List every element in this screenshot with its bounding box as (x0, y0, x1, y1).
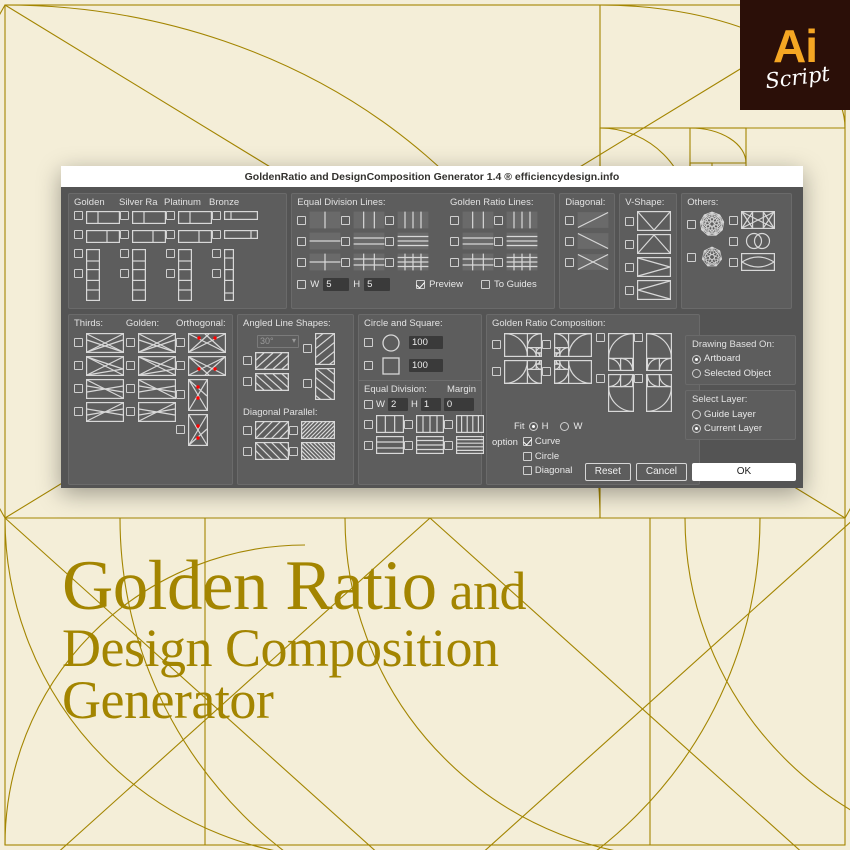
option-label: option (492, 437, 518, 448)
ed-h-input[interactable]: 1 (421, 398, 441, 411)
circle-square-group: Circle and Square: 100 100 (358, 314, 482, 485)
ratio-item-1-0[interactable] (120, 211, 166, 227)
preview-label: Preview (429, 279, 463, 290)
horizontal-division-icon[interactable] (462, 232, 494, 250)
diagonal-item-2[interactable] (565, 253, 609, 271)
orthogonal-item-1[interactable] (176, 356, 227, 376)
edl-item-1-0[interactable] (297, 232, 341, 250)
v-shape-icon-0[interactable] (637, 211, 671, 231)
ratio-checkbox-3-0[interactable] (212, 211, 221, 220)
golden-icon-3[interactable] (138, 402, 176, 422)
thirds-icon-1[interactable] (86, 356, 124, 376)
golden-ratio-composition-group: Golden Ratio Composition: Fit H W option (486, 314, 700, 485)
logo-script-text: Script (764, 64, 831, 93)
current-layer-radio[interactable] (692, 424, 701, 433)
ratio-item-1-2[interactable] (120, 249, 166, 266)
angled-item-3[interactable] (303, 368, 335, 400)
grl-checkbox-0-0[interactable] (450, 216, 459, 225)
thirds-item-2[interactable] (74, 379, 126, 399)
ratio-item-1-1[interactable] (120, 230, 166, 246)
orthogonal-item-3[interactable] (176, 414, 227, 446)
golden-spiral-icon-tall[interactable] (646, 333, 672, 371)
vertical-division-icon[interactable] (397, 211, 429, 229)
orthogonal-list (176, 333, 227, 446)
ratio-item-2-3[interactable] (166, 269, 212, 286)
equal-division-vertical-icon[interactable] (376, 415, 404, 433)
golden-item-3-checkbox[interactable] (126, 407, 135, 416)
diagonal-list (565, 211, 609, 271)
grid-division-icon[interactable] (397, 253, 429, 271)
ratio-icon-v2[interactable] (132, 269, 146, 301)
thirds-item-2-checkbox[interactable] (74, 384, 83, 393)
ratio-icon-h2[interactable] (178, 230, 212, 243)
edl-item-0-1[interactable] (341, 211, 385, 229)
golden-icon-2[interactable] (138, 379, 176, 399)
ed-item-h-0[interactable] (364, 436, 404, 454)
wh-enable-checkbox[interactable] (297, 280, 306, 289)
diagonal-item-2-checkbox[interactable] (565, 258, 574, 267)
diagonal-parallel-label: Diagonal Parallel: (243, 408, 348, 418)
headline-part-and: and (437, 561, 526, 621)
option-diagonal[interactable]: Diagonal (523, 465, 573, 476)
grc-wide-checkbox-1-0[interactable] (492, 367, 501, 376)
diagonal-item-0-checkbox[interactable] (565, 216, 574, 225)
horizontal-division-icon[interactable] (309, 232, 341, 250)
angled-item-1[interactable] (243, 373, 299, 391)
grc-wide-checkbox-0-1[interactable] (542, 340, 551, 349)
square-icon[interactable] (376, 356, 406, 376)
grl-item-1-0[interactable] (450, 232, 494, 250)
square-size-input[interactable]: 100 (409, 359, 443, 372)
margin-label: Margin (447, 385, 476, 395)
edl-item-0-2[interactable] (385, 211, 429, 229)
guide-layer-radio[interactable] (692, 410, 701, 419)
curve-checkbox[interactable] (523, 437, 532, 446)
dialog-body: Golden Silver Ra Platinum Bronze Equal D… (61, 187, 803, 488)
angled-line-icon[interactable] (255, 373, 289, 391)
ratio-item-1-3[interactable] (120, 269, 166, 286)
dialog-title: GoldenRatio and DesignComposition Genera… (245, 171, 620, 183)
ed-item-v-2[interactable] (444, 415, 484, 433)
grc-wide-checkbox-1-1[interactable] (542, 367, 551, 376)
edl-checkbox-2-2[interactable] (385, 258, 394, 267)
equal-division-horizontal-icon[interactable] (456, 436, 484, 454)
angled-right-list (303, 333, 335, 400)
ed-item-h-0-checkbox[interactable] (364, 441, 373, 450)
angled-item-0-checkbox[interactable] (243, 356, 252, 365)
curve-label: Curve (535, 436, 560, 447)
angled-item-2[interactable] (303, 333, 335, 365)
grl-checkbox-1-0[interactable] (450, 237, 459, 246)
golden-spiral-icon-tall[interactable] (608, 333, 634, 371)
diagonal-icon-0[interactable] (577, 211, 609, 229)
edl-item-2-1[interactable] (341, 253, 385, 271)
w-label: W (310, 279, 319, 290)
angled-item-2-checkbox[interactable] (303, 344, 312, 353)
diagonal-option-checkbox[interactable] (523, 466, 532, 475)
grc-wide-checkbox-0-0[interactable] (492, 340, 501, 349)
h-label: H (353, 279, 360, 290)
drawing-based-on-selected-object[interactable]: Selected Object (692, 368, 789, 379)
ratio-icon-h2[interactable] (132, 230, 166, 243)
h-input[interactable]: 5 (364, 278, 390, 291)
ratio-checkbox-3-2[interactable] (212, 249, 221, 258)
ratio-col-label-golden: Golden (74, 198, 119, 208)
right-panels: Drawing Based On: Artboard Selected Obje… (685, 187, 796, 445)
guide-layer-label: Guide Layer (704, 409, 756, 420)
grid-division-icon[interactable] (462, 253, 494, 271)
edl-checkbox-0-2[interactable] (385, 216, 394, 225)
ratio-item-3-2[interactable] (212, 249, 258, 266)
thirds-item-1-checkbox[interactable] (74, 361, 83, 370)
ratio-checkbox-2-2[interactable] (166, 249, 175, 258)
golden-item-2-checkbox[interactable] (126, 384, 135, 393)
edl-item-2-2[interactable] (385, 253, 429, 271)
fit-h-label: H (542, 421, 549, 432)
ratio-column-1 (120, 211, 166, 289)
angled-item-3-checkbox[interactable] (303, 379, 312, 388)
grl-item-0-0[interactable] (450, 211, 494, 229)
orthogonal-item-2[interactable] (176, 379, 227, 411)
v-shape-icon-3[interactable] (637, 280, 671, 300)
golden-ratio-lines-label: Golden Ratio Lines: (450, 198, 549, 208)
angled-line-vertical-icon[interactable] (315, 333, 335, 365)
golden-spiral-icon-wide[interactable] (554, 333, 592, 357)
golden-item-3[interactable] (126, 402, 176, 422)
golden-item-1-checkbox[interactable] (126, 361, 135, 370)
golden-item-2[interactable] (126, 379, 176, 399)
equal-division-checkbox[interactable] (364, 400, 373, 409)
ratio-checkbox-1-0[interactable] (120, 211, 129, 220)
diagonal-item-1[interactable] (565, 232, 609, 250)
ed-item-v-0-checkbox[interactable] (364, 420, 373, 429)
angled-line-vertical-icon[interactable] (315, 368, 335, 400)
ed-item-h-1-checkbox[interactable] (404, 441, 413, 450)
ratio-item-0-1[interactable] (74, 230, 120, 246)
edl-checkbox-2-1[interactable] (341, 258, 350, 267)
grc-tall-item-0-0[interactable] (596, 333, 634, 371)
logo-ai-text: Ai (773, 23, 817, 69)
v-shape-item-1[interactable] (625, 234, 671, 254)
edl-checkbox-1-0[interactable] (297, 237, 306, 246)
v-shape-item-1-checkbox[interactable] (625, 240, 634, 249)
grl-item-1-1[interactable] (494, 232, 538, 250)
grc-right-grid (596, 333, 672, 415)
equal-division-fields: W 2 H 1 0 (364, 398, 476, 411)
headline-line-2: Design Composition (62, 622, 702, 675)
edl-checkbox-2-0[interactable] (297, 258, 306, 267)
ed-w-input[interactable]: 2 (388, 398, 408, 411)
orthogonal-item-2-checkbox[interactable] (176, 390, 185, 399)
fit-w-radio[interactable] (560, 422, 569, 431)
v-shape-item-3-checkbox[interactable] (625, 286, 634, 295)
ratio-checkbox-1-3[interactable] (120, 269, 129, 278)
thirds-item-0[interactable] (74, 333, 126, 353)
golden-icon-1[interactable] (138, 356, 176, 376)
diagpar-item-0[interactable] (243, 421, 289, 439)
edl-item-2-0[interactable] (297, 253, 341, 271)
drawing-based-on-artboard[interactable]: Artboard (692, 353, 789, 364)
ratio-icon-v2[interactable] (86, 269, 100, 301)
golden-icon-0[interactable] (138, 333, 176, 353)
golden-spiral-icon-wide[interactable] (554, 360, 592, 384)
ratio-item-2-0[interactable] (166, 211, 212, 227)
ratio-checkbox-0-1[interactable] (74, 230, 83, 239)
ed-item-h-2[interactable] (444, 436, 484, 454)
grid-division-icon[interactable] (353, 253, 385, 271)
equal-division-lines-section: Equal Division Lines: (297, 198, 450, 274)
diagonal-item-0[interactable] (565, 211, 609, 229)
horizontal-division-icon[interactable] (506, 232, 538, 250)
orthogonal-icon-2[interactable] (188, 379, 208, 411)
ed-item-v-1[interactable] (404, 415, 444, 433)
diagonal-parallel-icon[interactable] (255, 442, 289, 460)
orthogonal-item-3-checkbox[interactable] (176, 425, 185, 434)
ratio-item-0-2[interactable] (74, 249, 120, 266)
v-shape-label: V-Shape: (625, 198, 671, 208)
thirds-icon-0[interactable] (86, 333, 124, 353)
ratio-checkbox-2-1[interactable] (166, 230, 175, 239)
ratio-item-3-1[interactable] (212, 230, 258, 246)
headline-part-golden-ratio: Golden Ratio (62, 547, 437, 625)
diagpar-item-1[interactable] (289, 421, 335, 439)
select-layer-current[interactable]: Current Layer (692, 423, 789, 434)
edl-checkbox-1-1[interactable] (341, 237, 350, 246)
ratio-checkbox-3-1[interactable] (212, 230, 221, 239)
equal-division-horizontal-icon[interactable] (416, 436, 444, 454)
v-shape-item-2[interactable] (625, 257, 671, 277)
angle-select[interactable]: 30° (257, 335, 299, 348)
grl-checkbox-2-0[interactable] (450, 258, 459, 267)
ratio-item-3-0[interactable] (212, 211, 258, 227)
grl-checkbox-0-1[interactable] (494, 216, 503, 225)
circle-size-input[interactable]: 100 (409, 336, 443, 349)
ratio-checkbox-0-2[interactable] (74, 249, 83, 258)
grl-checkbox-1-1[interactable] (494, 237, 503, 246)
v-shape-item-0[interactable] (625, 211, 671, 231)
ratio-item-3-3[interactable] (212, 269, 258, 286)
circle-row: 100 (364, 333, 476, 353)
ed-item-v-1-checkbox[interactable] (404, 420, 413, 429)
grc-tall-checkbox-1-0[interactable] (596, 374, 605, 383)
ok-button[interactable]: OK (692, 463, 796, 481)
ratio-item-0-0[interactable] (74, 211, 120, 227)
ratio-icon-h1[interactable] (224, 211, 258, 220)
ratio-icon-h2[interactable] (86, 230, 120, 243)
thirds-icon-2[interactable] (86, 379, 124, 399)
orthogonal-icon-3[interactable] (188, 414, 208, 446)
reset-button[interactable]: Reset (585, 463, 631, 481)
grc-tall-item-1-0[interactable] (596, 374, 634, 412)
vertical-division-icon[interactable] (309, 211, 341, 229)
square-checkbox[interactable] (364, 361, 373, 370)
selected-object-radio[interactable] (692, 369, 701, 378)
ratio-checkbox-0-3[interactable] (74, 269, 83, 278)
ed-item-h-2-checkbox[interactable] (444, 441, 453, 450)
grl-checkbox-2-1[interactable] (494, 258, 503, 267)
fit-label: Fit (514, 421, 525, 432)
ratio-checkbox-2-0[interactable] (166, 211, 175, 220)
golden-item-0-checkbox[interactable] (126, 338, 135, 347)
v-shape-group: V-Shape: (619, 193, 677, 309)
ed-margin-input[interactable]: 0 (444, 398, 474, 411)
vertical-division-icon[interactable] (353, 211, 385, 229)
ratio-checkbox-3-3[interactable] (212, 269, 221, 278)
edl-item-1-2[interactable] (385, 232, 429, 250)
horizontal-division-icon[interactable] (353, 232, 385, 250)
grc-wide-item-1-0[interactable] (492, 360, 542, 384)
thirds-icon-3[interactable] (86, 402, 124, 422)
to-guides-label: To Guides (494, 279, 537, 290)
golden-spiral-icon-wide[interactable] (504, 333, 542, 357)
grid-division-icon[interactable] (309, 253, 341, 271)
grc-tall-item-0-1[interactable] (634, 333, 672, 371)
preview-checkbox[interactable] (416, 280, 425, 289)
ratio-icon-h1[interactable] (178, 211, 212, 224)
golden-section: Golden: (126, 319, 176, 448)
grc-tall-checkbox-1-1[interactable] (634, 374, 643, 383)
ratio-item-0-3[interactable] (74, 269, 120, 286)
drawing-based-on-label: Drawing Based On: (692, 340, 789, 350)
ai-script-logo: Ai Script (740, 0, 850, 110)
fit-h-radio[interactable] (529, 422, 538, 431)
golden-label: Golden: (126, 319, 176, 329)
circle-icon[interactable] (376, 333, 406, 353)
equal-division-grid (364, 415, 476, 457)
ratio-col-label-bronze: Bronze (209, 198, 254, 208)
grc-wide-item-0-0[interactable] (492, 333, 542, 357)
ed-item-v-2-checkbox[interactable] (444, 420, 453, 429)
ratio-icon-h1[interactable] (132, 211, 166, 224)
ratio-item-2-2[interactable] (166, 249, 212, 266)
ed-item-h-1[interactable] (404, 436, 444, 454)
ratio-checkbox-1-1[interactable] (120, 230, 129, 239)
ratio-checkbox-2-3[interactable] (166, 269, 175, 278)
grc-tall-item-1-1[interactable] (634, 374, 672, 412)
diagonal-icon-1[interactable] (577, 232, 609, 250)
artboard-radio[interactable] (692, 355, 701, 364)
golden-item-1[interactable] (126, 356, 176, 376)
grl-item-2-1[interactable] (494, 253, 538, 271)
diagonal-icon-2[interactable] (577, 253, 609, 271)
diagonal-item-1-checkbox[interactable] (565, 237, 574, 246)
ratio-item-2-1[interactable] (166, 230, 212, 246)
grl-item-2-0[interactable] (450, 253, 494, 271)
equal-division-vertical-icon[interactable] (416, 415, 444, 433)
angled-item-0[interactable] (243, 352, 299, 370)
golden-item-0[interactable] (126, 333, 176, 353)
golden-spiral-icon-tall[interactable] (608, 374, 634, 412)
option-circle[interactable]: Circle (523, 451, 573, 462)
v-shape-item-0-checkbox[interactable] (625, 217, 634, 226)
thirds-item-0-checkbox[interactable] (74, 338, 83, 347)
horizontal-division-icon[interactable] (397, 232, 429, 250)
grc-tall-checkbox-0-1[interactable] (634, 333, 643, 342)
diagpar-item-3[interactable] (289, 442, 335, 460)
v-shape-item-3[interactable] (625, 280, 671, 300)
ed-item-v-0[interactable] (364, 415, 404, 433)
angled-item-1-checkbox[interactable] (243, 377, 252, 386)
thirds-label: Thirds: (74, 319, 126, 329)
edl-checkbox-1-2[interactable] (385, 237, 394, 246)
diagpar-item-2-checkbox[interactable] (243, 447, 252, 456)
grid-division-icon[interactable] (506, 253, 538, 271)
orthogonal-item-1-checkbox[interactable] (176, 361, 185, 370)
ed-h-label: H (411, 399, 418, 410)
angled-left-col: 30° (243, 333, 299, 403)
ratio-icon-v2[interactable] (224, 269, 234, 301)
w-input[interactable]: 5 (323, 278, 349, 291)
golden-spiral-icon-wide[interactable] (504, 360, 542, 384)
orthogonal-section: Orthogonal: (176, 319, 227, 448)
diagonal-parallel-icon[interactable] (301, 421, 335, 439)
diagonal-label: Diagonal: (565, 198, 609, 208)
edl-checkbox-0-1[interactable] (341, 216, 350, 225)
golden-spiral-icon-tall[interactable] (646, 374, 672, 412)
selected-object-label: Selected Object (704, 368, 771, 379)
equal-division-vertical-icon[interactable] (456, 415, 484, 433)
page-headline: Golden Ratio and Design Composition Gene… (62, 552, 702, 727)
orthogonal-item-0[interactable] (176, 333, 227, 353)
orthogonal-icon-0[interactable] (188, 333, 226, 353)
thirds-item-3[interactable] (74, 402, 126, 422)
diagpar-item-0-checkbox[interactable] (243, 426, 252, 435)
angled-line-icon[interactable] (255, 352, 289, 370)
v-shape-icon-1[interactable] (637, 234, 671, 254)
v-shape-icon-2[interactable] (637, 257, 671, 277)
diagonal-parallel-icon[interactable] (255, 421, 289, 439)
v-shape-item-2-checkbox[interactable] (625, 263, 634, 272)
thirds-section: Thirds: (74, 319, 126, 448)
ratio-checkbox-0-0[interactable] (74, 211, 83, 220)
diagpar-item-2[interactable] (243, 442, 289, 460)
vertical-division-icon[interactable] (506, 211, 538, 229)
thirds-item-1[interactable] (74, 356, 126, 376)
diagpar-item-1-checkbox[interactable] (289, 426, 298, 435)
dialog-footer-buttons: Reset Cancel OK (585, 463, 796, 481)
ratio-icon-h2[interactable] (224, 230, 258, 239)
circle-option-checkbox[interactable] (523, 452, 532, 461)
edl-item-0-0[interactable] (297, 211, 341, 229)
thirds-item-3-checkbox[interactable] (74, 407, 83, 416)
grc-wide-item-1-1[interactable] (542, 360, 592, 384)
select-layer-guide[interactable]: Guide Layer (692, 409, 789, 420)
cancel-button[interactable]: Cancel (636, 463, 687, 481)
vertical-division-icon[interactable] (462, 211, 494, 229)
diagpar-item-3-checkbox[interactable] (289, 447, 298, 456)
ratio-icon-h1[interactable] (86, 211, 120, 224)
ratio-checkbox-1-2[interactable] (120, 249, 129, 258)
edl-checkbox-0-0[interactable] (297, 216, 306, 225)
angled-shapes-group: Angled Line Shapes: 30° Diagonal Paralle… (237, 314, 354, 485)
option-curve[interactable]: Curve (523, 436, 573, 447)
grl-item-0-1[interactable] (494, 211, 538, 229)
golden-ratio-composition-label: Golden Ratio Composition: (492, 319, 694, 329)
grc-tall-checkbox-0-0[interactable] (596, 333, 605, 342)
orthogonal-item-0-checkbox[interactable] (176, 338, 185, 347)
to-guides-checkbox[interactable] (481, 280, 490, 289)
ratio-column-0 (74, 211, 120, 289)
ratio-icon-v2[interactable] (178, 269, 192, 301)
equal-division-horizontal-icon[interactable] (376, 436, 404, 454)
diagonal-parallel-icon[interactable] (301, 442, 335, 460)
orthogonal-icon-1[interactable] (188, 356, 226, 376)
grc-wide-item-0-1[interactable] (542, 333, 592, 357)
option-checkbox-list: Curve Circle Diagonal (523, 436, 573, 479)
edl-item-1-1[interactable] (341, 232, 385, 250)
circle-checkbox[interactable] (364, 338, 373, 347)
ratio-rectangles-group: Golden Silver Ra Platinum Bronze (68, 193, 287, 309)
